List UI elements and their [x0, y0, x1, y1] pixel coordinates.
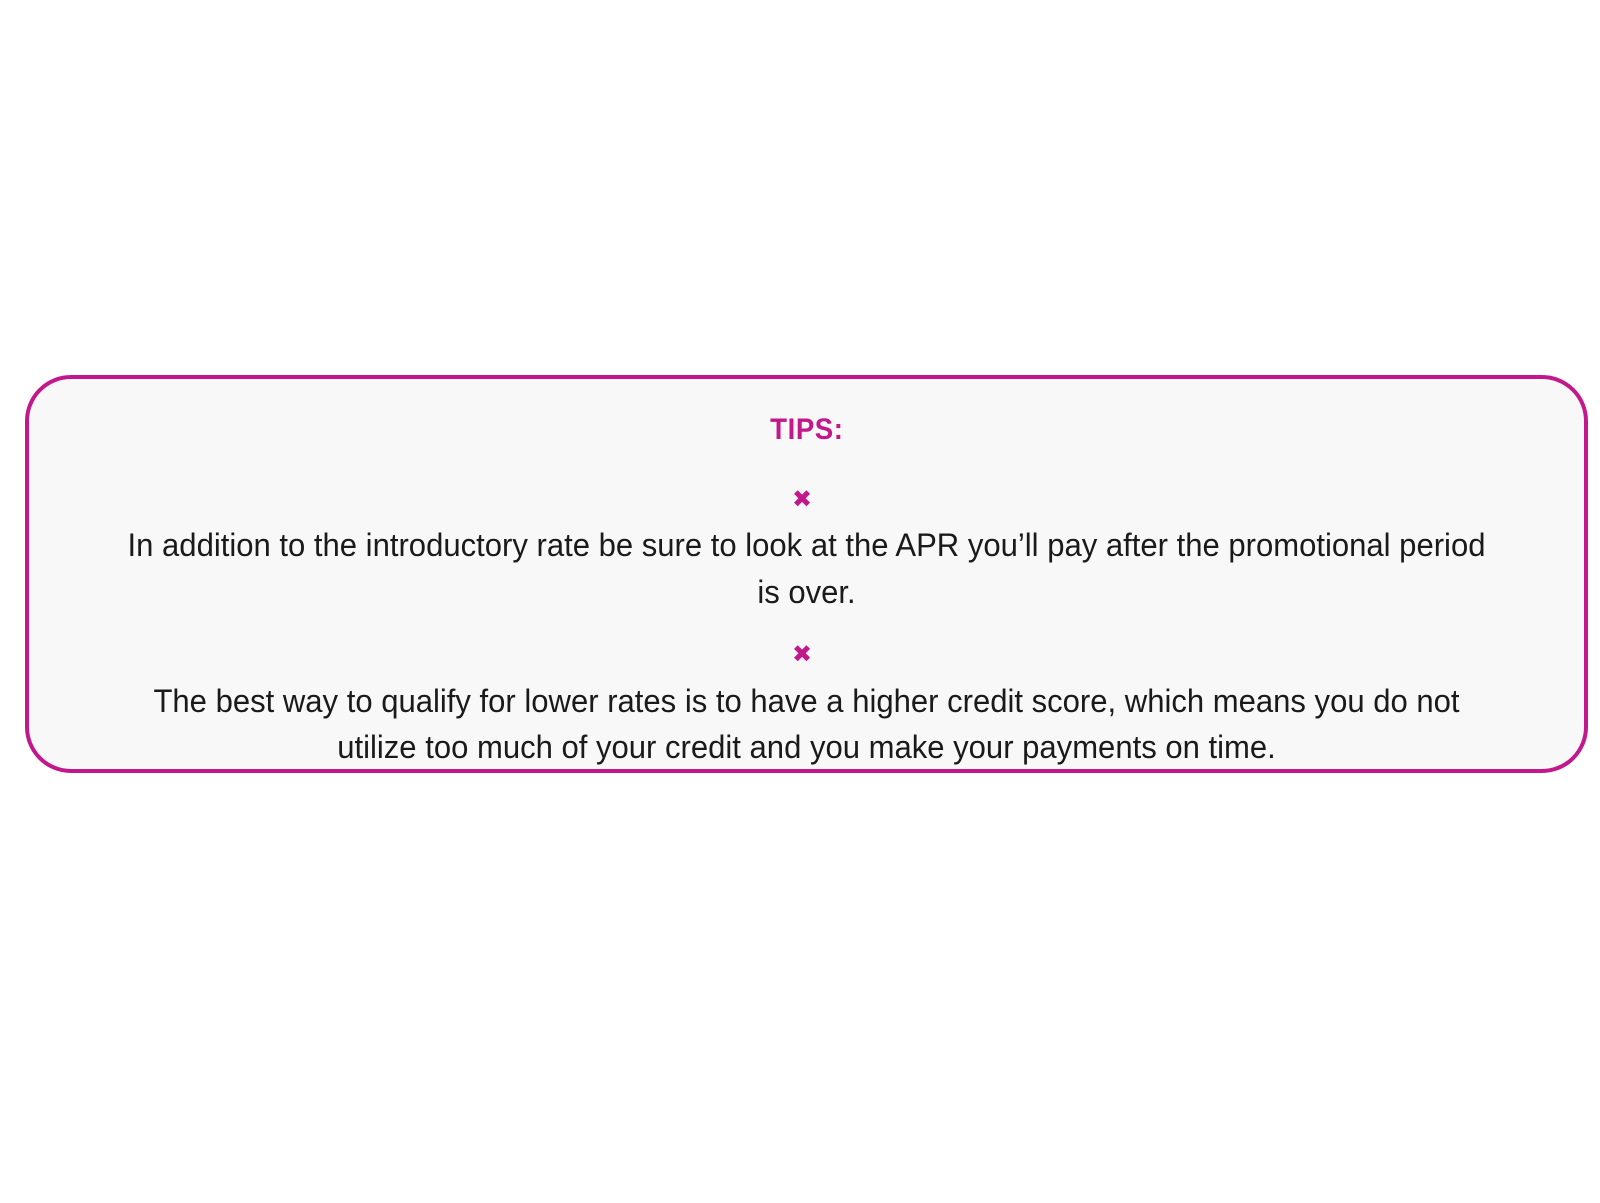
tip-list-item: ✖The best way to qualify for lower rates… — [85, 631, 1528, 770]
tips-callout-box: TIPS: ✖In addition to the introductory r… — [25, 375, 1588, 773]
tip-text: The best way to qualify for lower rates … — [124, 678, 1489, 771]
tip-text: In addition to the introductory rate be … — [124, 522, 1489, 615]
tip-list-item: ✖In addition to the introductory rate be… — [85, 476, 1528, 615]
tips-heading: TIPS: — [770, 413, 843, 446]
x-mark-bullet-icon: ✖ — [792, 643, 812, 667]
tips-list: ✖In addition to the introductory rate be… — [85, 476, 1528, 770]
x-mark-bullet-icon: ✖ — [792, 488, 812, 512]
page-canvas: TIPS: ✖In addition to the introductory r… — [0, 0, 1600, 1203]
